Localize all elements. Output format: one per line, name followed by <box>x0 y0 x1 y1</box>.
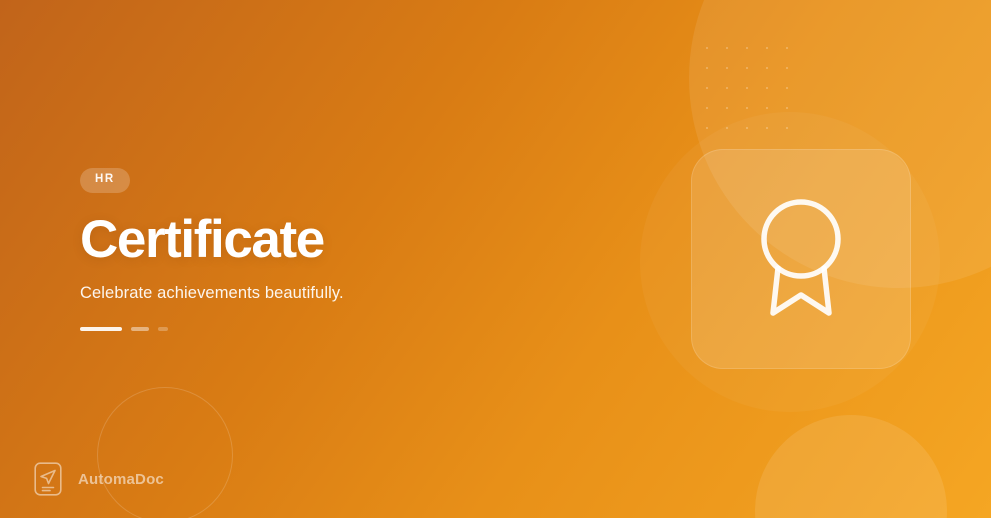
category-badge: HR <box>80 168 130 193</box>
slide-content: HR Certificate Celebrate achievements be… <box>80 168 600 331</box>
brand-name: AutomaDoc <box>78 471 164 488</box>
decorative-circle-bottom-right <box>755 415 947 518</box>
decorative-ring-bottom-left <box>97 387 233 518</box>
progress-dash-2[interactable] <box>131 327 149 331</box>
decorative-dot-grid <box>697 38 789 130</box>
slide-progress-indicator[interactable] <box>80 327 600 331</box>
presentation-slide: HR Certificate Celebrate achievements be… <box>0 0 991 518</box>
award-ribbon-icon <box>749 197 853 321</box>
brand-footer: AutomaDoc <box>33 461 164 497</box>
progress-dash-3[interactable] <box>158 327 168 331</box>
hero-icon-card <box>691 149 911 369</box>
slide-subtitle: Celebrate achievements beautifully. <box>80 284 600 303</box>
document-send-icon <box>33 461 63 497</box>
progress-dash-1[interactable] <box>80 327 122 331</box>
page-title: Certificate <box>80 213 600 267</box>
